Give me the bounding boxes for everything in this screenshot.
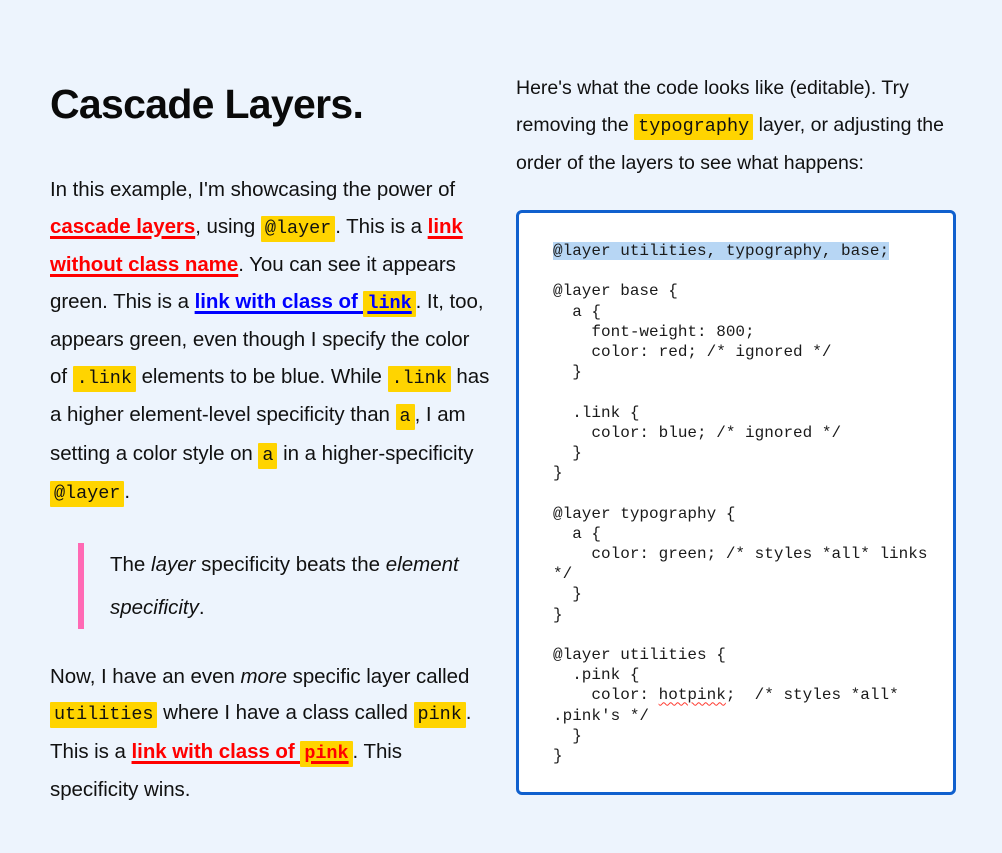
code-chip-pink: pink xyxy=(414,702,466,728)
right-column: Here's what the code looks like (editabl… xyxy=(516,62,956,795)
utilities-paragraph: Now, I have an even more specific layer … xyxy=(50,659,490,809)
code-editor-content[interactable]: @layer utilities, typography, base; @lay… xyxy=(553,241,931,766)
text-fragment: , using xyxy=(195,215,261,238)
emphasis-more: more xyxy=(240,665,287,688)
editor-intro-text: Here's what the code looks like (editabl… xyxy=(516,70,956,182)
code-selected-line[interactable]: @layer utilities, typography, base; xyxy=(553,242,889,260)
link-cascade-layers[interactable]: cascade layers xyxy=(50,215,195,238)
code-chip-typography: typography xyxy=(634,114,753,140)
blockquote-text: The layer specificity beats the element … xyxy=(110,543,490,629)
link-label: link with class of xyxy=(195,290,364,313)
emphasis-layer: layer xyxy=(151,553,195,576)
code-editor-panel[interactable]: @layer utilities, typography, base; @lay… xyxy=(516,210,956,795)
text-fragment: Now, I have an even xyxy=(50,665,240,688)
text-fragment: The xyxy=(110,553,151,576)
text-fragment: In this example, I'm showcasing the powe… xyxy=(50,178,455,201)
code-body-before-spellcheck: @layer base { a { font-weight: 800; colo… xyxy=(553,282,937,704)
code-chip-link: link xyxy=(363,291,415,317)
left-column: Cascade Layers. In this example, I'm sho… xyxy=(50,62,490,835)
text-fragment: . xyxy=(124,480,130,503)
code-chip-dotlink-2: .link xyxy=(388,366,451,392)
code-spellcheck-word[interactable]: hotpink xyxy=(659,686,726,704)
text-fragment: specificity beats the xyxy=(195,553,385,576)
text-fragment: elements to be blue. While xyxy=(136,365,388,388)
link-label: link with class of xyxy=(132,740,301,763)
callout-blockquote: The layer specificity beats the element … xyxy=(78,543,490,629)
code-chip-dotlink-1: .link xyxy=(73,366,136,392)
text-fragment: . xyxy=(199,596,205,619)
page-root: Cascade Layers. In this example, I'm sho… xyxy=(0,0,1002,853)
text-fragment: in a higher-specificity xyxy=(277,442,473,465)
link-with-class-of-pink[interactable]: link with class of pink xyxy=(132,740,353,763)
text-fragment: . This is a xyxy=(335,215,427,238)
text-fragment: where I have a class called xyxy=(157,701,413,724)
code-chip-atlayer: @layer xyxy=(261,216,335,242)
code-chip-utilities: utilities xyxy=(50,702,157,728)
code-chip-a-2: a xyxy=(258,443,277,469)
code-chip-a-1: a xyxy=(396,404,415,430)
page-title: Cascade Layers. xyxy=(50,82,490,126)
code-chip-atlayer-2: @layer xyxy=(50,481,124,507)
intro-paragraph: In this example, I'm showcasing the powe… xyxy=(50,172,490,513)
link-with-class-of-link[interactable]: link with class of link xyxy=(195,290,416,313)
code-chip-pink-in-link: pink xyxy=(300,741,352,767)
text-fragment: specific layer called xyxy=(287,665,469,688)
